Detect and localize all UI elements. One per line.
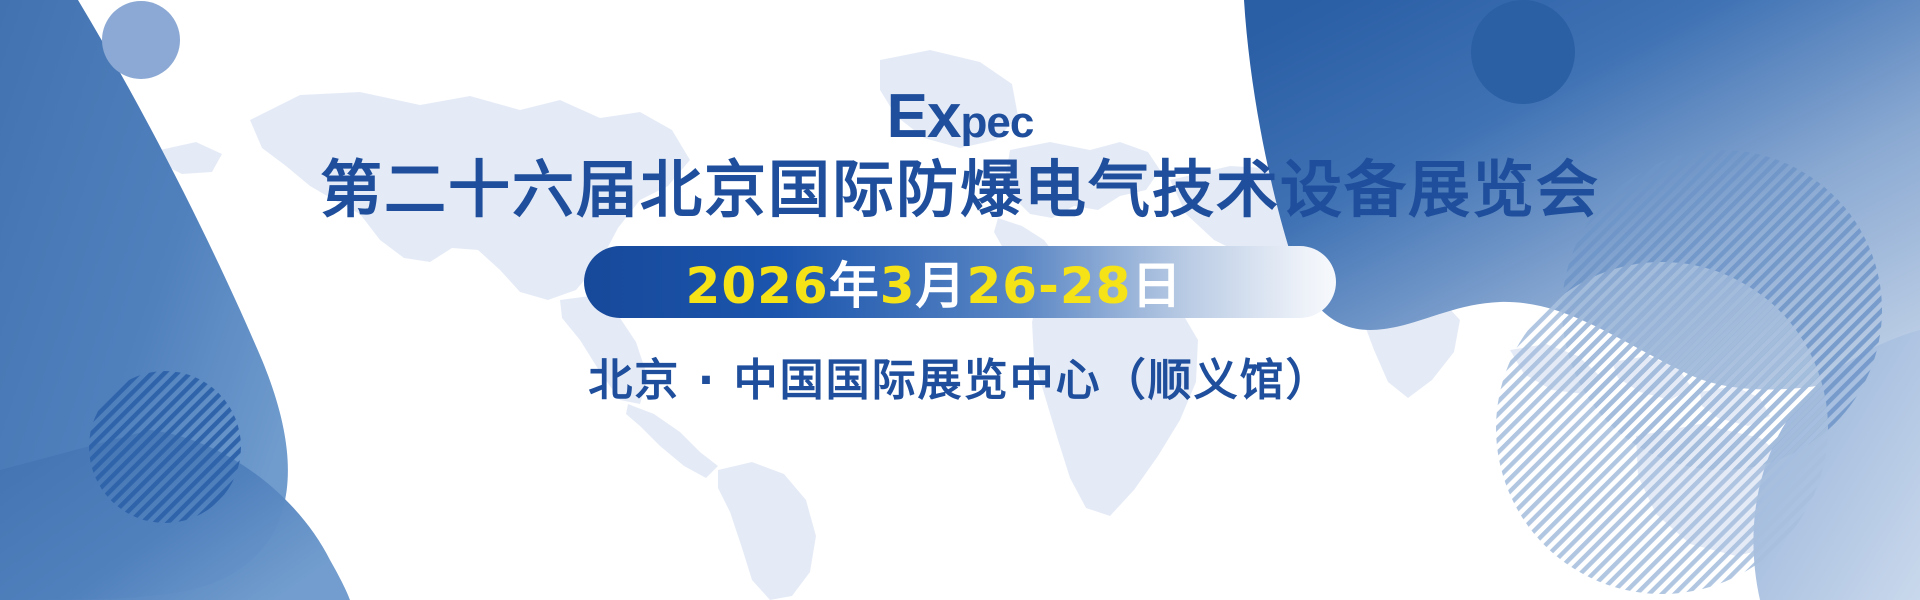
venue-text: 北京 · 中国国际展览中心（顺义馆） bbox=[588, 344, 1331, 408]
expec-logo: Expec bbox=[887, 86, 1034, 148]
date-badge: 2026年3月26-28日 bbox=[584, 246, 1336, 318]
logo-text-large: Ex bbox=[887, 82, 961, 151]
page-title: 第二十六届北京国际防爆电气技术设备展览会 bbox=[320, 156, 1600, 224]
date-year-unit: 年 bbox=[829, 257, 880, 315]
date-month-unit: 月 bbox=[916, 257, 967, 315]
date-text: 2026年3月26-28日 bbox=[686, 246, 1183, 318]
event-banner: Expec 第二十六届北京国际防爆电气技术设备展览会 2026年3月26-28日… bbox=[0, 0, 1920, 600]
date-day-unit: 日 bbox=[1131, 257, 1182, 315]
logo-text-small: pec bbox=[961, 98, 1034, 147]
date-year: 2026 bbox=[686, 257, 829, 315]
date-month: 3 bbox=[880, 257, 916, 315]
banner-content: Expec 第二十六届北京国际防爆电气技术设备展览会 2026年3月26-28日… bbox=[0, 0, 1920, 600]
date-days: 26-28 bbox=[967, 257, 1132, 315]
